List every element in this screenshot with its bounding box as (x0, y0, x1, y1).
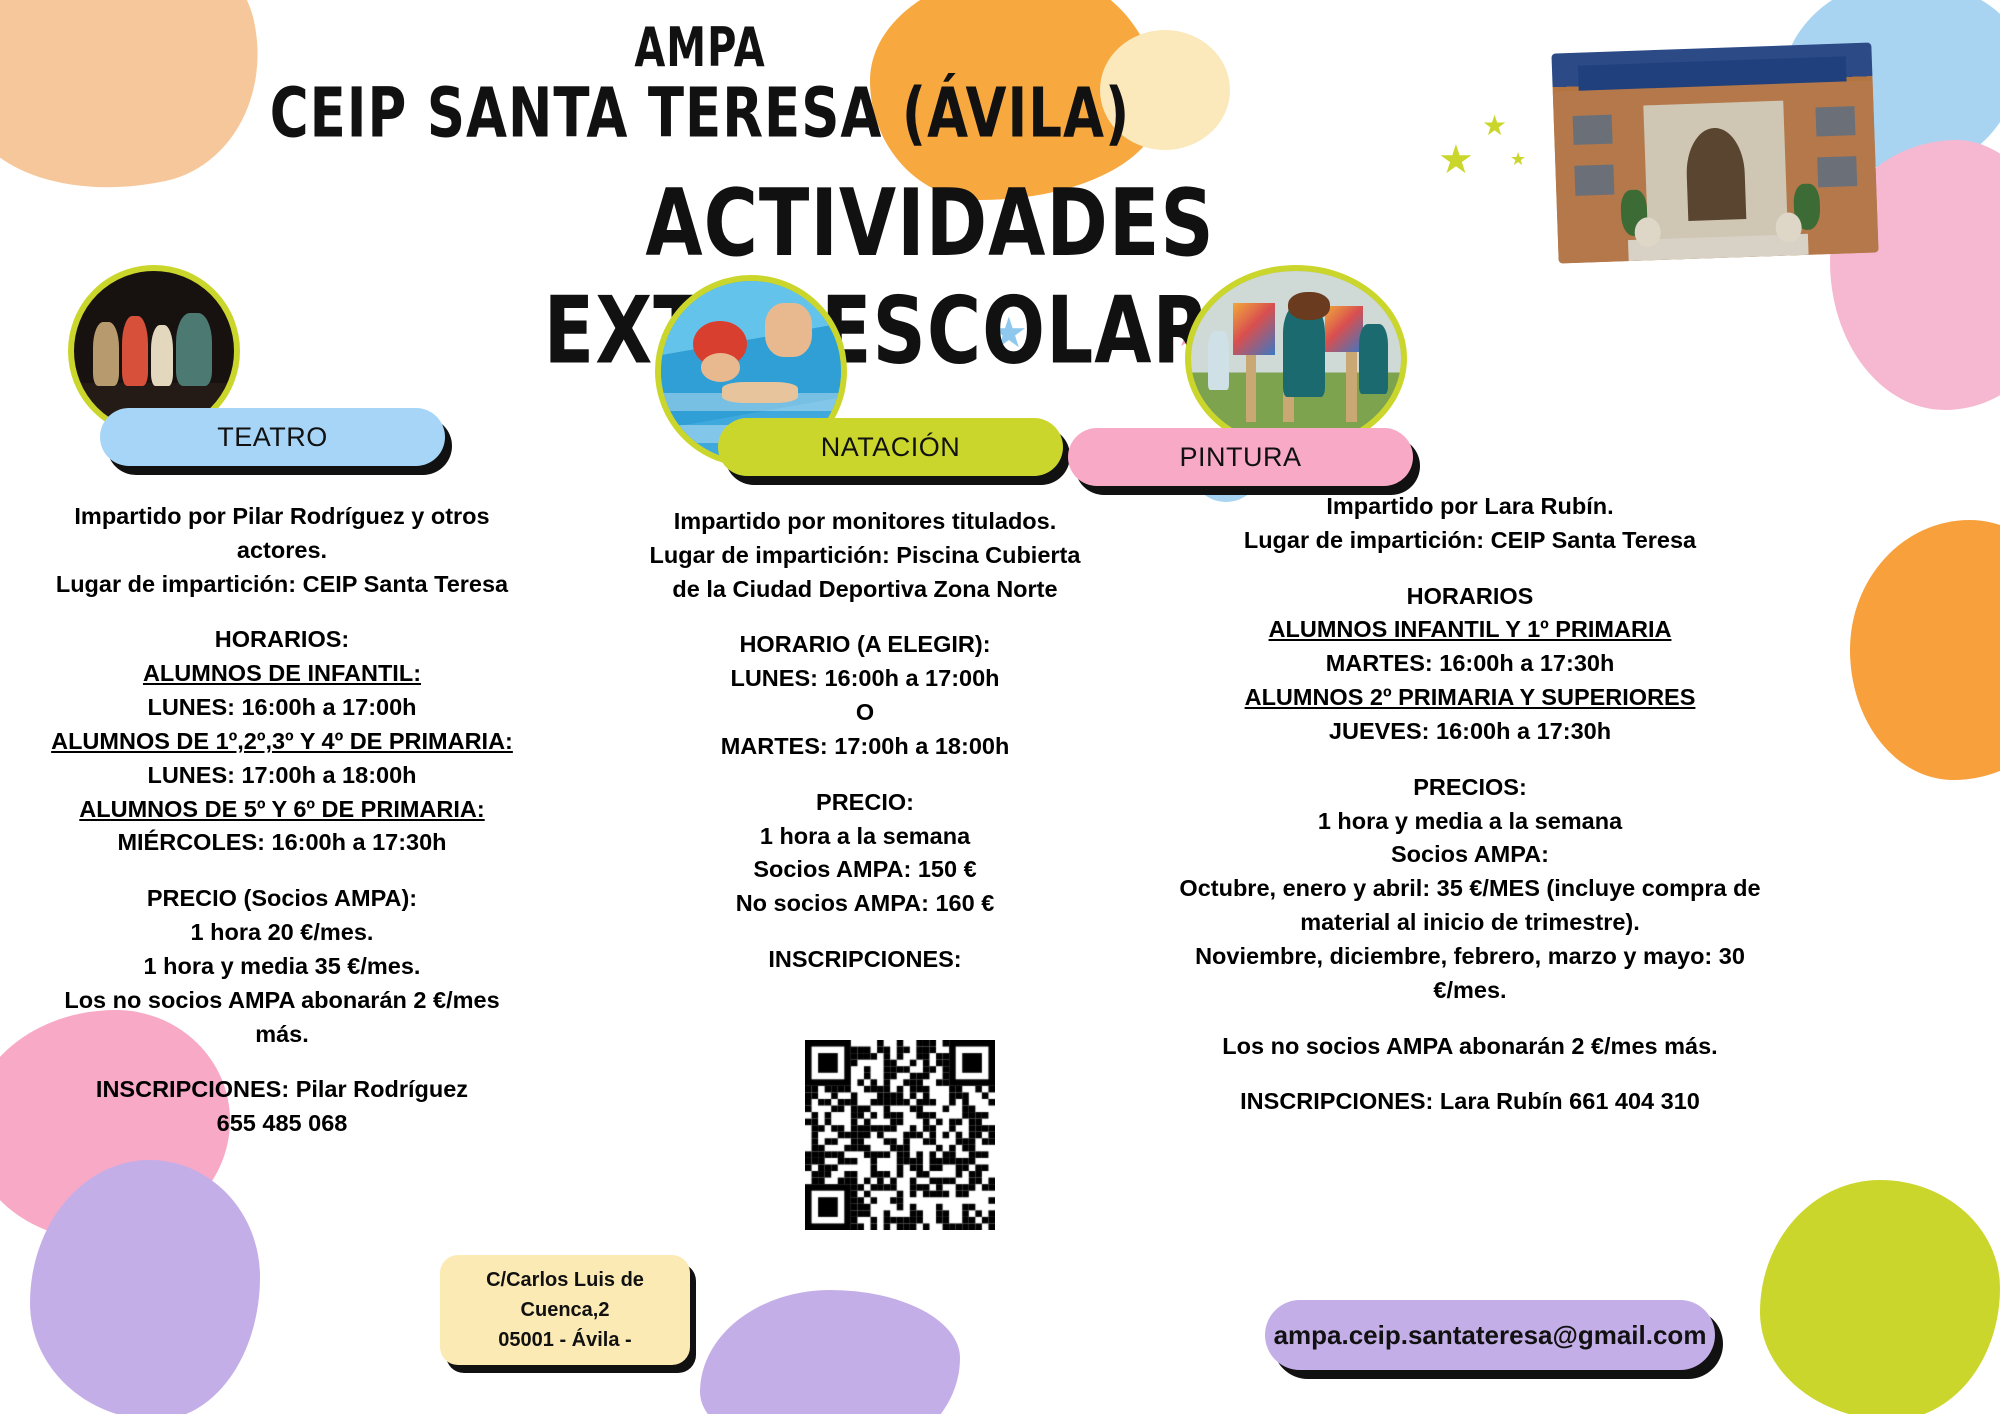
info-line: Socios AMPA: (1160, 838, 1780, 872)
info-line: PRECIO: (640, 786, 1090, 820)
info-line: Impartido por Lara Rubín. (1160, 490, 1780, 524)
email-pill[interactable]: ampa.ceip.santateresa@gmail.com (1265, 1300, 1715, 1370)
info-line: 1 hora a la semana (640, 820, 1090, 854)
star-icon-green-2: ★ (1482, 112, 1507, 140)
info-line: No socios AMPA: 160 € (640, 887, 1090, 921)
address-line-2: Cuenca,2 (521, 1295, 610, 1325)
blob-purple-left (30, 1160, 260, 1414)
badge-teatro[interactable]: TEATRO (100, 408, 445, 466)
info-line: HORARIO (A ELEGIR): (640, 628, 1090, 662)
poster-canvas: ★ ★ ★ ★ ★ AMPA CEIP SANTA TERESA (ÁVILA)… (0, 0, 2000, 1414)
info-line: ALUMNOS 2º PRIMARIA Y SUPERIORES (1160, 681, 1780, 715)
info-line: MARTES: 17:00h a 18:00h (640, 730, 1090, 764)
info-line: LUNES: 16:00h a 17:00h (42, 691, 522, 725)
info-line: Los no socios AMPA abonarán 2 €/mes más. (1160, 1030, 1780, 1064)
blob-orange-right (1850, 520, 2000, 780)
poster-header: AMPA CEIP SANTA TERESA (ÁVILA) (0, 20, 1400, 134)
info-line: PRECIOS: (1160, 771, 1780, 805)
info-line: LUNES: 16:00h a 17:00h (640, 662, 1090, 696)
info-line: 655 485 068 (42, 1107, 522, 1141)
info-line: Socios AMPA: 150 € (640, 853, 1090, 887)
column-pintura: Impartido por Lara Rubín.Lugar de impart… (1160, 490, 1780, 1119)
info-line: Lugar de impartición: Piscina Cubierta d… (640, 539, 1090, 607)
info-line: 1 hora y media a la semana (1160, 805, 1780, 839)
address-line-1: C/Carlos Luis de (486, 1265, 644, 1295)
info-line: Noviembre, diciembre, febrero, marzo y m… (1160, 940, 1780, 1008)
text-gap (42, 1051, 522, 1073)
badge-pintura[interactable]: PINTURA (1068, 428, 1413, 486)
info-line: INSCRIPCIONES: (640, 943, 1090, 977)
info-line: MIÉRCOLES: 16:00h a 17:30h (42, 826, 522, 860)
info-line: ALUMNOS DE INFANTIL: (42, 657, 522, 691)
info-line: JUEVES: 16:00h a 17:30h (1160, 715, 1780, 749)
text-gap (1160, 1008, 1780, 1030)
info-line: PRECIO (Socios AMPA): (42, 882, 522, 916)
info-line-underlined: ALUMNOS DE INFANTIL: (143, 660, 421, 686)
star-icon-green-3: ★ (1510, 150, 1526, 168)
blob-green-bottom-right (1760, 1180, 2000, 1414)
text-gap (1160, 749, 1780, 771)
info-line: ALUMNOS INFANTIL Y 1º PRIMARIA (1160, 613, 1780, 647)
info-line: INSCRIPCIONES: Lara Rubín 661 404 310 (1160, 1085, 1780, 1119)
column-natacion: Impartido por monitores titulados.Lugar … (640, 505, 1090, 977)
info-line: HORARIOS: (42, 623, 522, 657)
info-line-underlined: ALUMNOS INFANTIL Y 1º PRIMARIA (1269, 616, 1672, 642)
ampa-label: AMPA (0, 20, 1400, 77)
info-line: Impartido por monitores titulados. (640, 505, 1090, 539)
info-line: INSCRIPCIONES: Pilar Rodríguez (42, 1073, 522, 1107)
info-line: Lugar de impartición: CEIP Santa Teresa (1160, 524, 1780, 558)
info-line-underlined: ALUMNOS 2º PRIMARIA Y SUPERIORES (1245, 684, 1696, 710)
text-gap (640, 764, 1090, 786)
info-line: Lugar de impartición: CEIP Santa Teresa (42, 568, 522, 602)
info-line: Octubre, enero y abril: 35 €/MES (incluy… (1160, 872, 1780, 940)
blob-purple-bottom (700, 1290, 960, 1414)
info-line: Impartido por Pilar Rodríguez y otros ac… (42, 500, 522, 568)
info-line: ALUMNOS DE 1º,2º,3º Y 4º DE PRIMARIA: (42, 725, 522, 759)
badge-natacion[interactable]: NATACIÓN (718, 418, 1063, 476)
info-line: ALUMNOS DE 5º Y 6º DE PRIMARIA: (42, 793, 522, 827)
info-line-underlined: ALUMNOS DE 1º,2º,3º Y 4º DE PRIMARIA: (51, 728, 513, 754)
info-line: LUNES: 17:00h a 18:00h (42, 759, 522, 793)
email-address: ampa.ceip.santateresa@gmail.com (1274, 1320, 1707, 1351)
info-line: Los no socios AMPA abonarán 2 €/mes más. (42, 984, 522, 1052)
text-gap (640, 606, 1090, 628)
school-name: CEIP SANTA TERESA (ÁVILA) (0, 78, 1400, 150)
info-line: O (640, 696, 1090, 730)
text-gap (1160, 1063, 1780, 1085)
info-line: 1 hora y media 35 €/mes. (42, 950, 522, 984)
school-building-photo (1551, 42, 1878, 263)
text-gap (42, 601, 522, 623)
info-line: MARTES: 16:00h a 17:30h (1160, 647, 1780, 681)
address-box: C/Carlos Luis de Cuenca,2 05001 - Ávila … (440, 1255, 690, 1365)
text-gap (1160, 558, 1780, 580)
text-gap (42, 860, 522, 882)
qr-code-inscripciones[interactable] (805, 1040, 995, 1230)
text-gap (640, 921, 1090, 943)
info-line: HORARIOS (1160, 580, 1780, 614)
column-teatro: Impartido por Pilar Rodríguez y otros ac… (42, 500, 522, 1141)
info-line: 1 hora 20 €/mes. (42, 916, 522, 950)
info-line-underlined: ALUMNOS DE 5º Y 6º DE PRIMARIA: (79, 796, 484, 822)
address-line-3: 05001 - Ávila - (498, 1325, 631, 1355)
pintura-photo (1185, 265, 1407, 452)
